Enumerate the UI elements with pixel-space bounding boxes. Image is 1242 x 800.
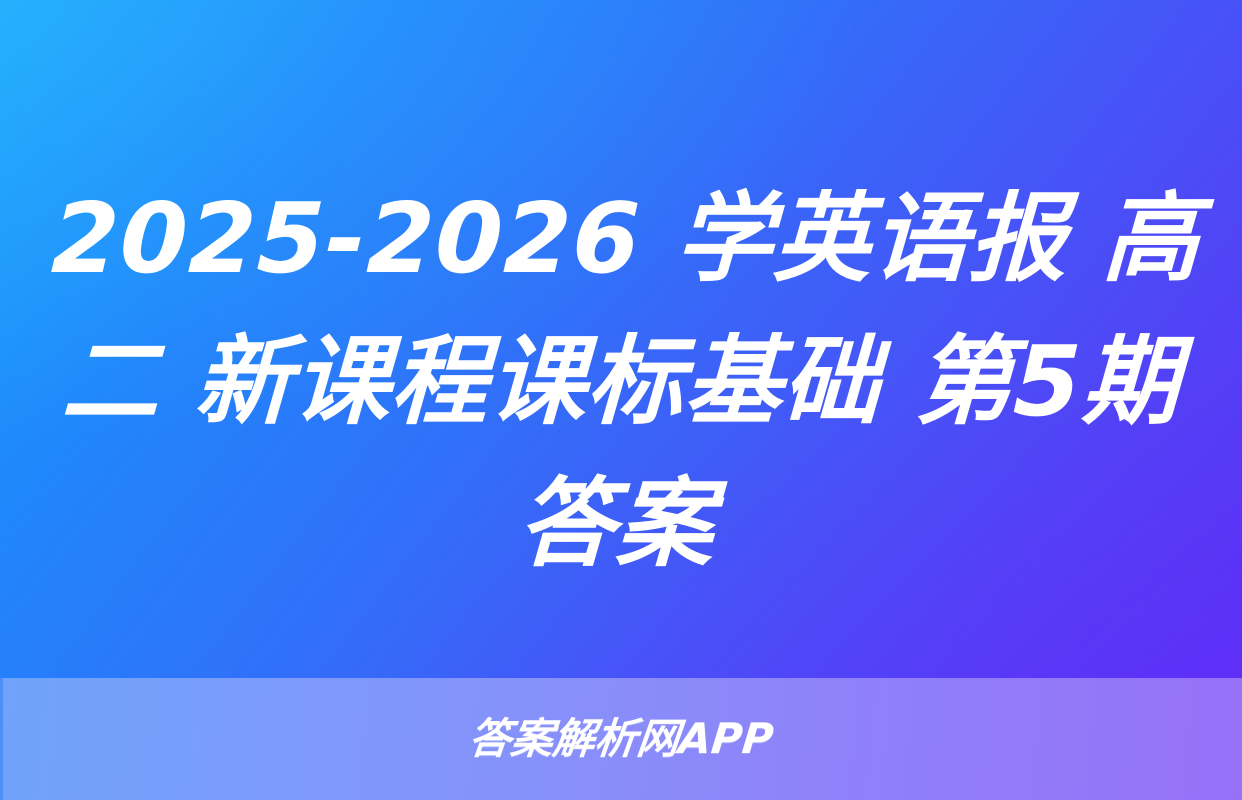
watermark-text: 答案解析网APP bbox=[467, 718, 775, 760]
poster-canvas: 2025-2026 学英语报 高二 新课程课标基础 第5期答案 答案解析网APP bbox=[0, 0, 1242, 800]
title-line-1: 2025-2026 学英语报 高 bbox=[50, 182, 1203, 295]
title-line-2: 二 新课程课标基础 第5 bbox=[60, 325, 1084, 438]
page-title: 2025-2026 学英语报 高二 新课程课标基础 第5期答案 bbox=[37, 168, 1206, 596]
watermark-band: 答案解析网APP bbox=[0, 678, 1242, 800]
poster-title-block: 2025-2026 学英语报 高二 新课程课标基础 第5期答案 bbox=[0, 168, 1242, 596]
